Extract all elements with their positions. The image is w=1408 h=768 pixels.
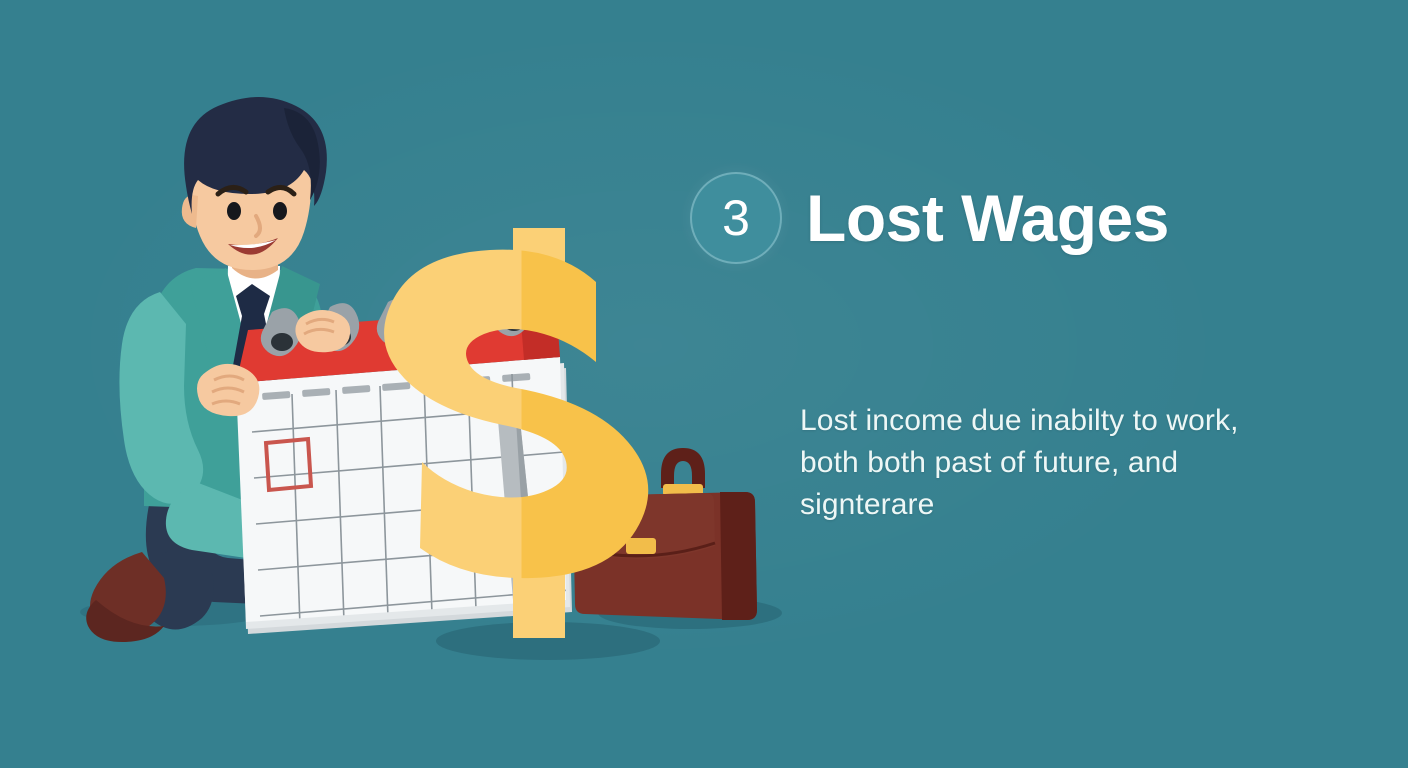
step-number-badge: 3 <box>690 172 782 264</box>
slide-root: 3 Lost Wages Lost income due inabilty to… <box>0 0 1408 768</box>
page-title: Lost Wages <box>806 185 1169 251</box>
title-row: 3 Lost Wages <box>690 172 1169 264</box>
step-number: 3 <box>722 193 750 243</box>
hand-top <box>295 310 350 352</box>
text-panel: 3 Lost Wages Lost income due inabilty to… <box>690 0 1390 768</box>
body-description: Lost income due inabilty to work, both b… <box>800 400 1280 526</box>
